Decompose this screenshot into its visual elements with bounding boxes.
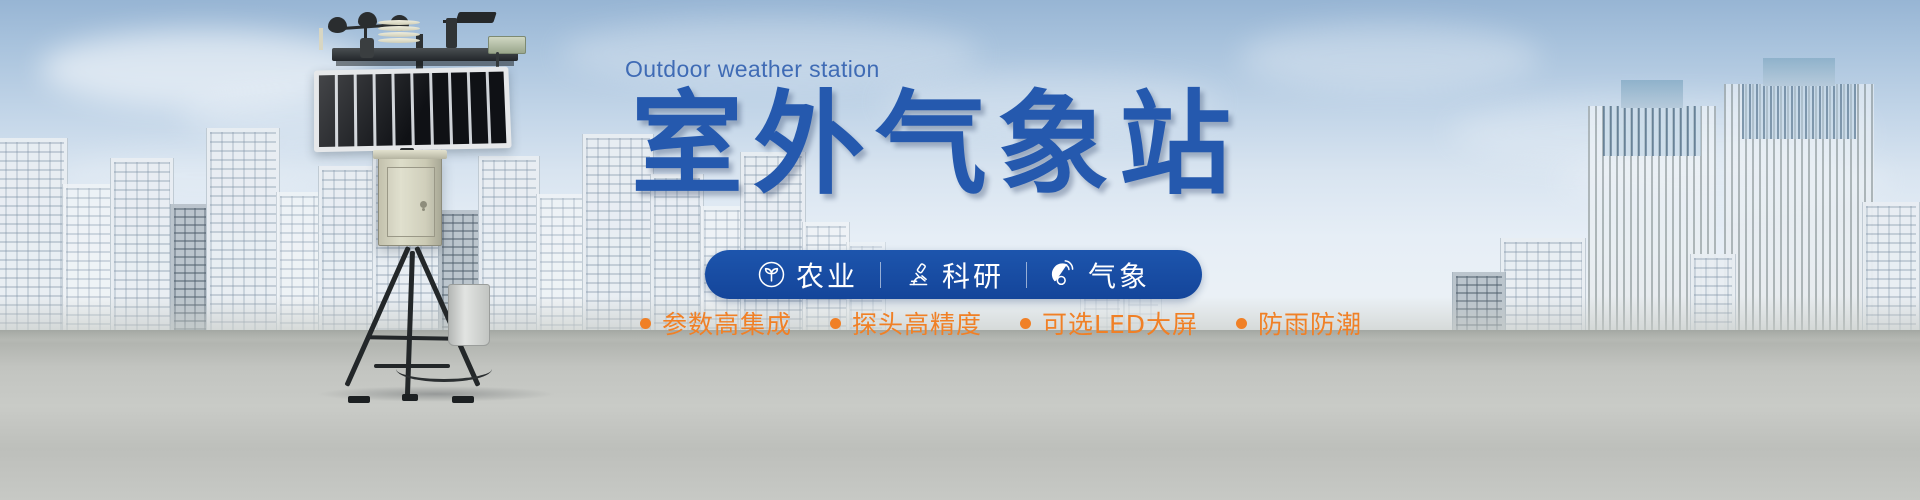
cross-arm-shadow	[336, 61, 514, 66]
badge-item-agriculture[interactable]: 农业	[735, 255, 880, 295]
badge-label: 农业	[796, 255, 858, 295]
wind-vane-hub	[446, 18, 457, 48]
satellite-dish-icon	[1049, 260, 1078, 289]
ground-plane	[0, 330, 1920, 500]
radiation-shield-icon	[378, 20, 420, 50]
badge-item-research[interactable]: 科研	[881, 255, 1026, 295]
feature-label: 防雨防潮	[1258, 305, 1362, 341]
list-item: 防雨防潮	[1236, 305, 1362, 341]
list-item: 参数高集成	[640, 305, 792, 341]
rain-gauge	[448, 284, 490, 346]
bullet-dot-icon	[1236, 318, 1247, 329]
subtitle-english: Outdoor weather station	[625, 56, 1425, 83]
sensor-box	[488, 36, 526, 54]
bullet-dot-icon	[640, 318, 651, 329]
bullet-dot-icon	[1020, 318, 1031, 329]
feature-label: 探头高精度	[852, 305, 982, 341]
list-item: 探头高精度	[830, 305, 982, 341]
page-title: 室外气象站	[631, 87, 1425, 205]
feature-list: 参数高集成 探头高精度 可选LED大屏 防雨防潮	[640, 305, 1362, 341]
list-item: 可选LED大屏	[1020, 305, 1198, 341]
weather-station-product	[300, 4, 550, 404]
badge-label: 气象	[1088, 255, 1150, 295]
solar-panel	[314, 67, 512, 153]
banner-root: Outdoor weather station 室外气象站 农业	[0, 0, 1920, 500]
microscope-icon	[903, 260, 932, 289]
ground-cable	[396, 356, 492, 382]
control-cabinet	[378, 156, 442, 246]
headline-block: Outdoor weather station 室外气象站	[625, 56, 1425, 205]
feature-label: 可选LED大屏	[1042, 305, 1198, 341]
application-badge: 农业 科研	[705, 250, 1202, 299]
badge-item-meteorology[interactable]: 气象	[1027, 255, 1172, 295]
sprout-icon	[757, 260, 786, 289]
feature-label: 参数高集成	[662, 305, 792, 341]
bullet-dot-icon	[830, 318, 841, 329]
badge-label: 科研	[942, 255, 1004, 295]
radiation-shield-stem	[319, 28, 323, 50]
